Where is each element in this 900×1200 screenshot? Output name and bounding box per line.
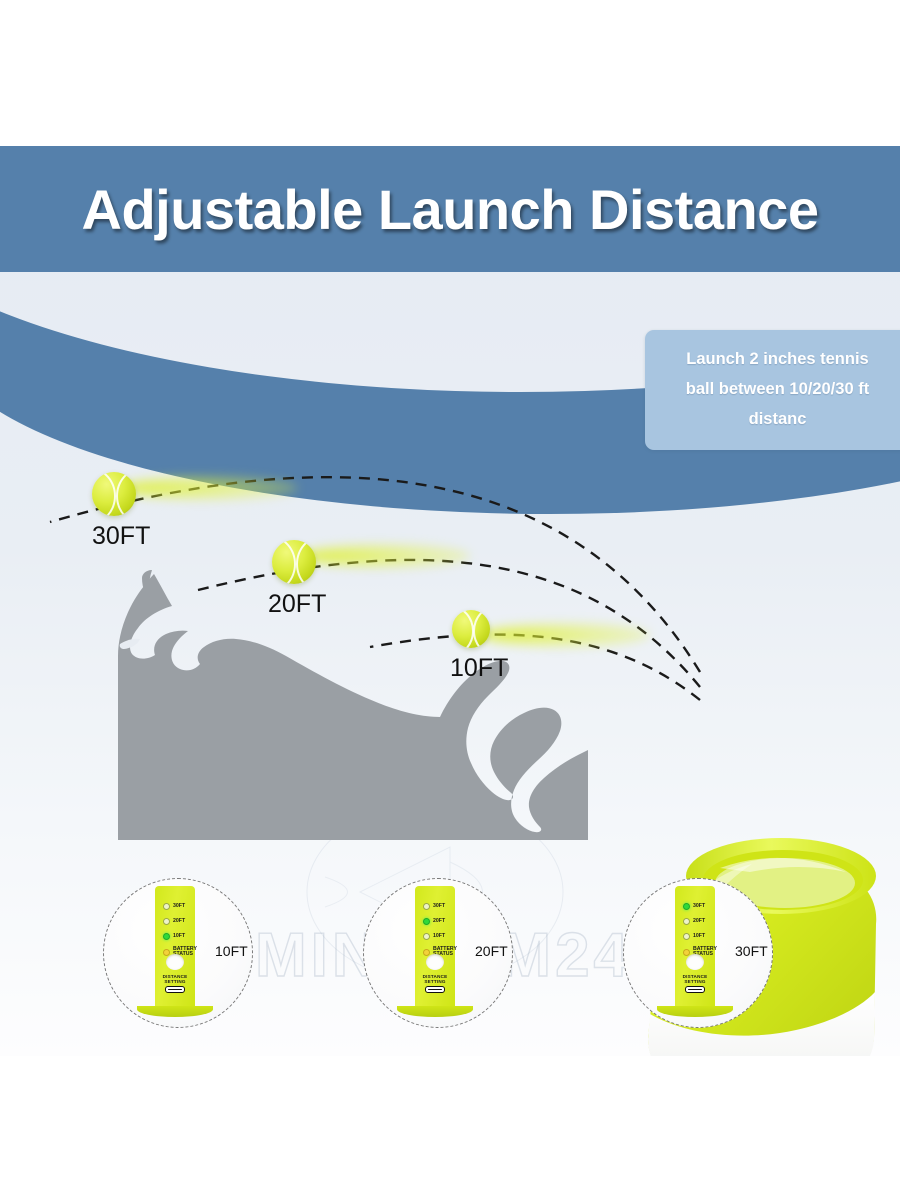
infographic-stage: Adjustable Launch Distance MINICAM24 (0, 0, 900, 1200)
callout-line-3: distanc (661, 404, 894, 434)
led-10ft-label: 10FT (693, 934, 705, 939)
inset-10ft[interactable]: 30FT 20FT 10FT BATTERY STATUS (103, 878, 253, 1048)
control-panel-10ft: 30FT 20FT 10FT BATTERY STATUS (155, 886, 195, 1024)
led-20ft-label: 20FT (693, 919, 705, 924)
led-10ft-label: 10FT (173, 934, 185, 939)
motion-streak-30ft (118, 475, 298, 501)
led-row-20ft[interactable]: 20FT (683, 918, 705, 925)
motion-streak-20ft (300, 543, 470, 569)
led-20ft-indicator (423, 918, 430, 925)
led-row-30ft[interactable]: 30FT (423, 903, 445, 910)
distance-label-10ft: 10FT (450, 654, 508, 683)
usb-port (425, 986, 445, 993)
led-10ft-indicator (163, 933, 170, 940)
tennis-ball-20ft (272, 540, 316, 584)
led-30ft-label: 30FT (433, 904, 445, 909)
header-banner: Adjustable Launch Distance (0, 146, 900, 272)
control-panel-20ft: 30FT 20FT 10FT BATTERY STATUS (415, 886, 455, 1024)
led-30ft-indicator (423, 903, 430, 910)
led-row-10ft[interactable]: 10FT (423, 933, 445, 940)
led-row-20ft[interactable]: 20FT (163, 918, 185, 925)
led-row-30ft[interactable]: 30FT (163, 903, 185, 910)
led-30ft-label: 30FT (693, 904, 705, 909)
led-row-10ft[interactable]: 10FT (683, 933, 705, 940)
distance-label-30ft: 30FT (92, 522, 150, 551)
led-10ft-indicator (423, 933, 430, 940)
led-20ft-indicator (683, 918, 690, 925)
inset-label-10ft: 10FT (215, 943, 248, 959)
led-30ft-label: 30FT (173, 904, 185, 909)
tennis-ball-10ft (452, 610, 490, 648)
callout-line-2: ball between 10/20/30 ft (661, 374, 894, 404)
distance-label-20ft: 20FT (268, 590, 326, 619)
led-30ft-indicator (683, 903, 690, 910)
inset-label-20ft: 20FT (475, 943, 508, 959)
distance-setting-button[interactable] (686, 954, 704, 970)
motion-streak-10ft (480, 622, 650, 648)
led-row-20ft[interactable]: 20FT (423, 918, 445, 925)
inset-30ft[interactable]: 30FT 20FT 10FT BATTERY STATUS (623, 878, 773, 1048)
usb-port (165, 986, 185, 993)
distance-setting-button[interactable] (166, 954, 184, 970)
tennis-ball-30ft (92, 472, 136, 516)
distance-setting-label: DISTANCE SETTING (673, 974, 717, 984)
control-panel-insets: 30FT 20FT 10FT BATTERY STATUS (0, 870, 900, 1060)
usb-port (685, 986, 705, 993)
led-20ft-label: 20FT (173, 919, 185, 924)
inset-20ft[interactable]: 30FT 20FT 10FT BATTERY STATUS (363, 878, 513, 1048)
callout-box: Launch 2 inches tennis ball between 10/2… (645, 330, 900, 450)
led-10ft-indicator (683, 933, 690, 940)
inset-label-30ft: 30FT (735, 943, 768, 959)
led-20ft-label: 20FT (433, 919, 445, 924)
callout-line-1: Launch 2 inches tennis (661, 344, 894, 374)
led-10ft-label: 10FT (433, 934, 445, 939)
page-title: Adjustable Launch Distance (0, 146, 900, 272)
led-row-10ft[interactable]: 10FT (163, 933, 185, 940)
led-30ft-indicator (163, 903, 170, 910)
distance-setting-label: DISTANCE SETTING (413, 974, 457, 984)
led-row-30ft[interactable]: 30FT (683, 903, 705, 910)
distance-setting-button[interactable] (426, 954, 444, 970)
control-panel-30ft: 30FT 20FT 10FT BATTERY STATUS (675, 886, 715, 1024)
led-20ft-indicator (163, 918, 170, 925)
distance-setting-label: DISTANCE SETTING (153, 974, 197, 984)
